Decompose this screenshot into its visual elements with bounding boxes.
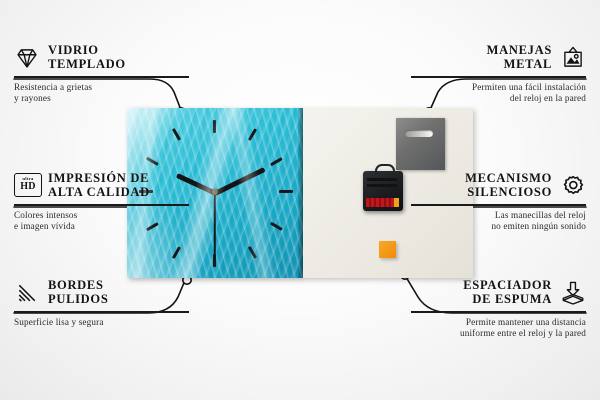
polished-edges-icon xyxy=(14,280,40,306)
clock-tick-3 xyxy=(279,190,293,193)
callout-sub-line2: e imagen vívida xyxy=(14,221,189,232)
ultra-hd-icon-main-text: HD xyxy=(20,182,35,192)
callout-sub-line2: del reloj en la pared xyxy=(411,93,586,104)
callout-mecanismo-silencioso: MECANISMO SILENCIOSO Las manecillas del … xyxy=(411,172,586,232)
callout-title-line1: MECANISMO xyxy=(465,172,552,186)
clock-tick-6 xyxy=(213,254,216,267)
callout-bordes-pulidos: BORDES PULIDOS Superficie lisa y segura xyxy=(14,279,189,328)
callout-divider xyxy=(14,76,189,78)
callout-title-line1: MANEJAS xyxy=(487,44,552,58)
callout-sub-line2: y rayones xyxy=(14,93,189,104)
battery-terminal xyxy=(394,198,399,207)
callout-sub-line2: no emiten ningún sonido xyxy=(411,221,586,232)
callout-divider xyxy=(411,204,586,206)
clock-minute-hand xyxy=(214,167,265,195)
battery xyxy=(366,198,396,207)
infographic-canvas: VIDRIO TEMPLADO Resistencia a grietas y … xyxy=(0,0,600,400)
callout-divider xyxy=(411,311,586,313)
ultra-hd-icon: ultra HD xyxy=(14,173,40,199)
foam-spacer-icon xyxy=(560,280,586,306)
callout-sub-line2: uniforme entre el reloj y la pared xyxy=(411,328,586,339)
callout-title-line2: METAL xyxy=(487,58,552,72)
callout-title-line2: ALTA CALIDAD xyxy=(48,186,150,200)
callout-sub-line1: Colores intensos xyxy=(14,210,189,221)
mechanism-vent xyxy=(367,178,397,181)
callout-espaciador-espuma: ESPACIADOR DE ESPUMA Permite mantener un… xyxy=(411,279,586,339)
callout-title-line1: VIDRIO xyxy=(48,44,126,58)
callout-divider xyxy=(14,311,189,313)
callout-sub-line1: Permiten una fácil instalación xyxy=(411,82,586,93)
clock-tick-1 xyxy=(248,128,257,141)
clock-tick-11 xyxy=(172,128,181,141)
clock-tick-2 xyxy=(270,157,283,166)
callout-title-line1: BORDES xyxy=(48,279,108,293)
callout-sub-line1: Resistencia a grietas xyxy=(14,82,189,93)
callout-vidrio-templado: VIDRIO TEMPLADO Resistencia a grietas y … xyxy=(14,44,189,104)
gear-icon xyxy=(560,173,586,199)
diamond-icon xyxy=(14,45,40,71)
callout-impresion-alta-calidad: ultra HD IMPRESIÓN DE ALTA CALIDAD Color… xyxy=(14,172,189,232)
metal-hanger-plate xyxy=(396,118,445,170)
clock-mechanism xyxy=(363,171,403,211)
clock-tick-4 xyxy=(270,222,283,231)
clock-pivot xyxy=(212,189,218,195)
callout-title-line2: DE ESPUMA xyxy=(463,293,552,307)
callout-manejas-metal: MANEJAS METAL Permiten una fácil instala… xyxy=(411,44,586,104)
callout-title-line2: SILENCIOSO xyxy=(465,186,552,200)
foam-spacer xyxy=(379,241,396,258)
callout-title-line1: ESPACIADOR xyxy=(463,279,552,293)
clock-tick-5 xyxy=(248,246,257,259)
callout-divider xyxy=(14,204,189,206)
callout-title-line2: PULIDOS xyxy=(48,293,108,307)
hanger-keyhole-slot xyxy=(405,130,433,137)
callout-sub-line1: Las manecillas del reloj xyxy=(411,210,586,221)
callout-title-line2: TEMPLADO xyxy=(48,58,126,72)
picture-frame-hanging-icon xyxy=(560,45,586,71)
clock-second-hand xyxy=(214,193,216,255)
clock-tick-12 xyxy=(213,120,216,133)
callout-sub-line1: Superficie lisa y segura xyxy=(14,317,189,328)
clock-tick-10 xyxy=(146,157,159,166)
mechanism-hanging-loop xyxy=(375,164,395,175)
callout-divider xyxy=(411,76,586,78)
callout-sub-line1: Permite mantener una distancia xyxy=(411,317,586,328)
clock-tick-7 xyxy=(172,246,181,259)
callout-title-line1: IMPRESIÓN DE xyxy=(48,172,150,186)
